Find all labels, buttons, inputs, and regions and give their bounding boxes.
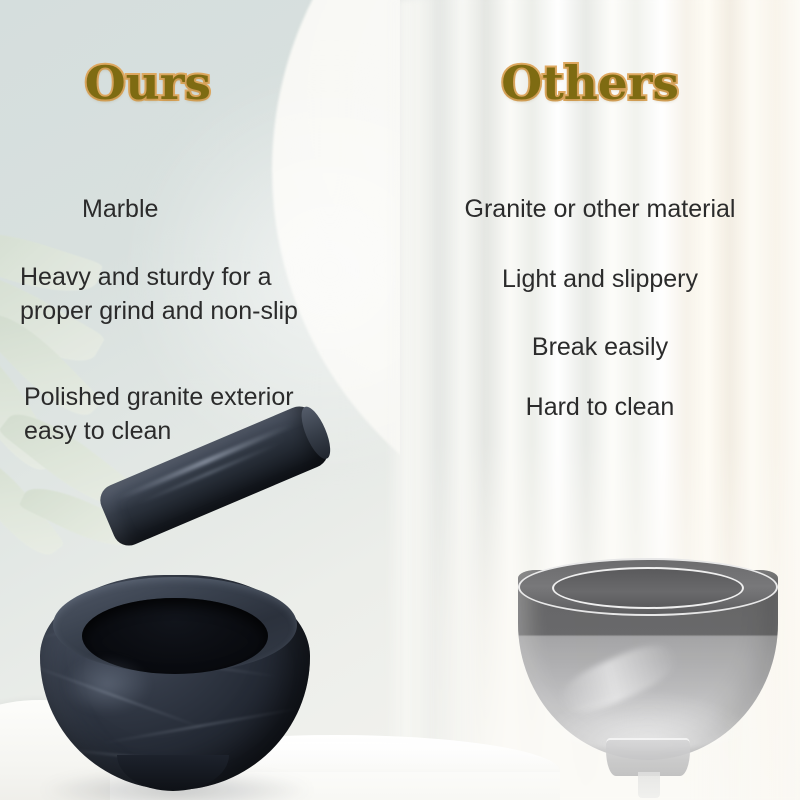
comparison-poster: Ours Others Marble Heavy and sturdy for … bbox=[0, 0, 800, 800]
feature-item-ours: Heavy and sturdy for a proper grind and … bbox=[0, 260, 410, 328]
feature-list-others: Granite or other material Light and slip… bbox=[400, 0, 800, 170]
product-image-grey-bowl bbox=[510, 560, 790, 780]
product-image-mortar-and-pestle bbox=[20, 480, 350, 800]
feature-item-others: Light and slippery bbox=[400, 262, 800, 296]
feature-item-ours: Polished granite exterior easy to clean bbox=[0, 380, 414, 448]
feature-item-others: Hard to clean bbox=[400, 390, 800, 424]
bowl-base bbox=[606, 738, 690, 776]
bowl-stem bbox=[638, 772, 660, 798]
bowl-rim-inner bbox=[552, 567, 744, 609]
feature-item-others: Break easily bbox=[400, 330, 800, 364]
mortar-highlight bbox=[62, 655, 152, 715]
feature-item-others: Granite or other material bbox=[400, 192, 800, 226]
feature-list-ours: Marble Heavy and sturdy for a proper gri… bbox=[0, 0, 390, 136]
